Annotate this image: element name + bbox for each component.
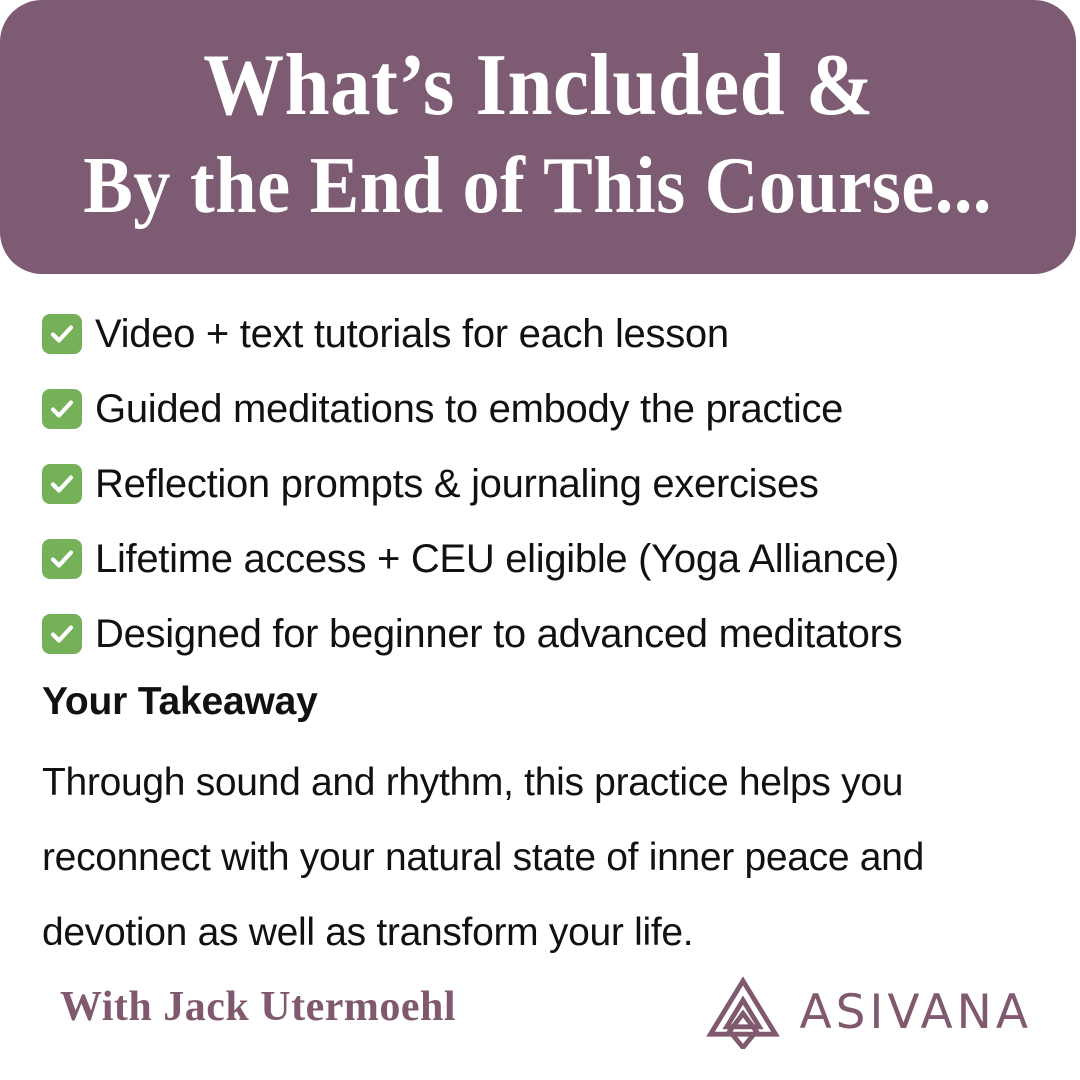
list-item-label: Guided meditations to embody the practic… — [95, 386, 843, 432]
check-box-green-icon — [42, 539, 82, 579]
list-item-label: Designed for beginner to advanced medita… — [95, 611, 902, 657]
takeaway-body-text: Through sound and rhythm, this practice … — [42, 745, 1042, 970]
brand-lockup: ASIVANA — [706, 975, 1032, 1049]
list-item: Guided meditations to embody the practic… — [42, 371, 1042, 446]
included-checklist: Video + text tutorials for each lesson G… — [42, 296, 1042, 671]
check-box-green-icon — [42, 314, 82, 354]
list-item: Video + text tutorials for each lesson — [42, 296, 1042, 371]
takeaway-heading: Your Takeaway — [42, 680, 318, 724]
check-box-green-icon — [42, 389, 82, 429]
list-item-label: Reflection prompts & journaling exercise… — [95, 461, 819, 507]
check-box-green-icon — [42, 464, 82, 504]
list-item-label: Lifetime access + CEU eligible (Yoga All… — [95, 536, 899, 582]
banner-title-line-1: What’s Included & — [203, 42, 874, 130]
brand-wordmark: ASIVANA — [800, 989, 1032, 1036]
list-item: Reflection prompts & journaling exercise… — [42, 446, 1042, 521]
check-box-green-icon — [42, 614, 82, 654]
list-item: Designed for beginner to advanced medita… — [42, 596, 1042, 671]
list-item-label: Video + text tutorials for each lesson — [95, 311, 729, 357]
asivana-triangle-diamond-logo-icon — [706, 975, 780, 1049]
header-banner: What’s Included & By the End of This Cou… — [0, 0, 1076, 274]
banner-title-line-2: By the End of This Course... — [84, 146, 993, 226]
list-item: Lifetime access + CEU eligible (Yoga All… — [42, 521, 1042, 596]
author-byline: With Jack Utermoehl — [60, 983, 456, 1031]
